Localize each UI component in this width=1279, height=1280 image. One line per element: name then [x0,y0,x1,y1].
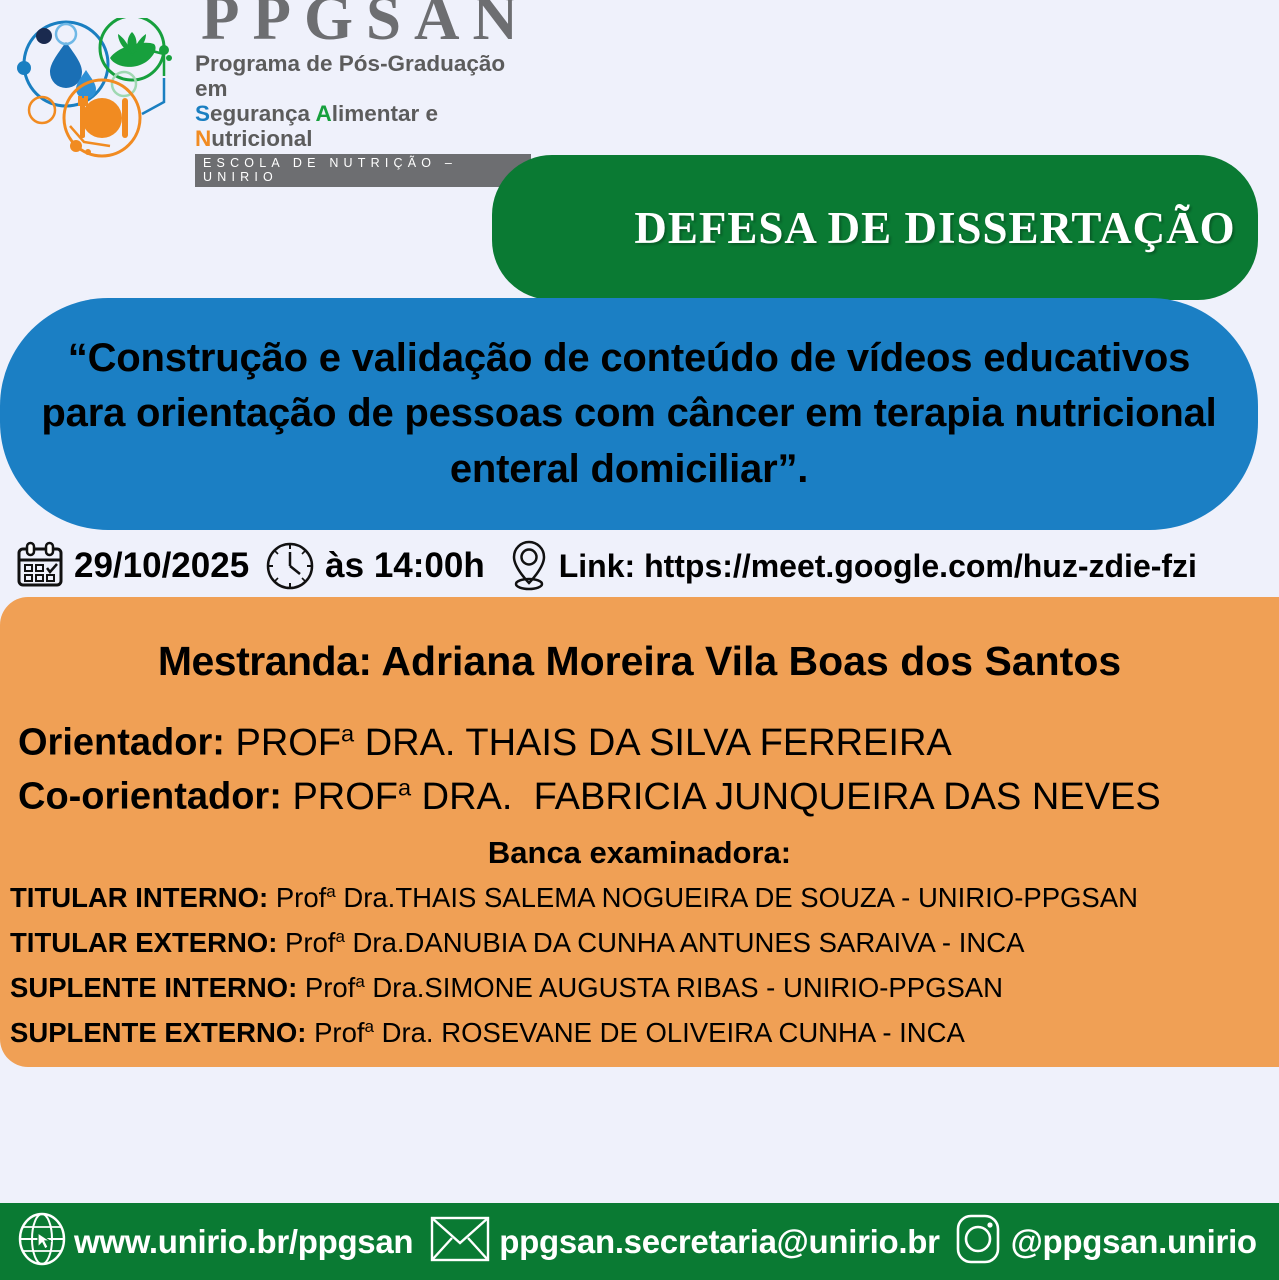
banca-name-0: Profa Dra.THAIS SALEMA NOGUEIRA DE SOUZA… [276,882,1138,913]
orientador-row: Orientador: PROFa DRA. THAIS DA SILVA FE… [10,720,1279,765]
defense-banner: DEFESA DE DISSERTAÇÃO [492,155,1258,300]
banca-name-3: Profa Dra. ROSEVANE DE OLIVEIRA CUNHA - … [314,1017,965,1048]
date-group: 29/10/2025 [14,541,249,591]
coorientador-row: Co-orientador: PROFa DRA. FABRICIA JUNQU… [10,774,1279,819]
details-panel: Mestranda: Adriana Moreira Vila Boas dos… [0,597,1279,1067]
banca-role-3: SUPLENTE EXTERNO: [10,1017,306,1048]
ppgsan-logo-text: PPGSAN Programa de Pós-Graduação em Segu… [195,0,531,187]
ppgsan-logo-mark-icon [14,18,189,158]
coorientador-name: PROFa DRA. FABRICIA JUNQUEIRA DAS NEVES [292,776,1160,818]
mestranda-label: Mestranda: [158,638,372,684]
banca-role-0: TITULAR INTERNO: [10,882,268,913]
globe-icon [16,1211,68,1272]
link-group: Link: https://meet.google.com/huz-zdie-f… [507,539,1197,593]
banca-row-suplente-externo: SUPLENTE EXTERNO: Profa Dra. ROSEVANE DE… [10,1017,1279,1049]
poster-root: PPGSAN Programa de Pós-Graduação em Segu… [0,0,1279,1280]
banca-title: Banca examinadora: [0,835,1279,871]
mestranda-row: Mestranda: Adriana Moreira Vila Boas dos… [0,638,1279,685]
website-text[interactable]: www.unirio.br/ppgsan [74,1223,413,1261]
envelope-icon [429,1213,491,1270]
ppgsan-subtitle-line1: Programa de Pós-Graduação em [195,51,531,101]
email-text[interactable]: ppgsan.secretaria@unirio.br [499,1223,939,1261]
orientador-label: Orientador: [18,722,225,764]
banca-role-1: TITULAR EXTERNO: [10,927,277,958]
event-date: 29/10/2025 [74,546,249,586]
defense-banner-title: DEFESA DE DISSERTAÇÃO [514,202,1235,254]
calendar-icon [14,541,66,591]
event-time: às 14:00h [325,546,485,586]
time-group: às 14:00h [265,541,485,591]
instagram-text[interactable]: @ppgsan.unirio [1011,1223,1257,1261]
clock-icon [265,541,315,591]
banca-row-suplente-interno: SUPLENTE INTERNO: Profa Dra.SIMONE AUGUS… [10,972,1279,1004]
event-info-row: 29/10/2025 às 14:00h [0,536,1279,596]
instagram-icon [952,1211,1004,1272]
coorientador-label: Co-orientador: [18,776,282,818]
banca-name-1: Profa Dra.DANUBIA DA CUNHA ANTUNES SARAI… [285,927,1024,958]
dissertation-title-banner: “Construção e validação de conteúdo de v… [0,298,1258,530]
sponsor-logos-row: UNIRIO Universidade Federal do Estado do… [0,1082,1279,1178]
banca-role-2: SUPLENTE INTERNO: [10,972,297,1003]
location-pin-icon [507,539,551,593]
ppgsan-subtitle-line2: Segurança Alimentar e Nutricional [195,101,531,151]
email-group[interactable]: ppgsan.secretaria@unirio.br [429,1213,939,1270]
ppgsan-logo: PPGSAN Programa de Pós-Graduação em Segu… [14,14,514,162]
dissertation-title: “Construção e validação de conteúdo de v… [37,331,1222,497]
banca-row-titular-interno: TITULAR INTERNO: Profa Dra.THAIS SALEMA … [10,882,1279,914]
instagram-group[interactable]: @ppgsan.unirio [952,1211,1257,1272]
contact-footer: www.unirio.br/ppgsan ppgsan.secretaria@u… [0,1203,1279,1280]
banca-name-2: Profa Dra.SIMONE AUGUSTA RIBAS - UNIRIO-… [305,972,1003,1003]
banca-row-titular-externo: TITULAR EXTERNO: Profa Dra.DANUBIA DA CU… [10,927,1279,959]
meeting-link[interactable]: Link: https://meet.google.com/huz-zdie-f… [559,548,1197,585]
website-group[interactable]: www.unirio.br/ppgsan [16,1211,413,1272]
ppgsan-acronym: PPGSAN [201,0,531,49]
orientador-name: PROFa DRA. THAIS DA SILVA FERREIRA [235,722,951,764]
mestranda-name: Adriana Moreira Vila Boas dos Santos [381,638,1121,684]
ppgsan-school-bar: ESCOLA DE NUTRIÇÃO – UNIRIO [195,154,531,187]
